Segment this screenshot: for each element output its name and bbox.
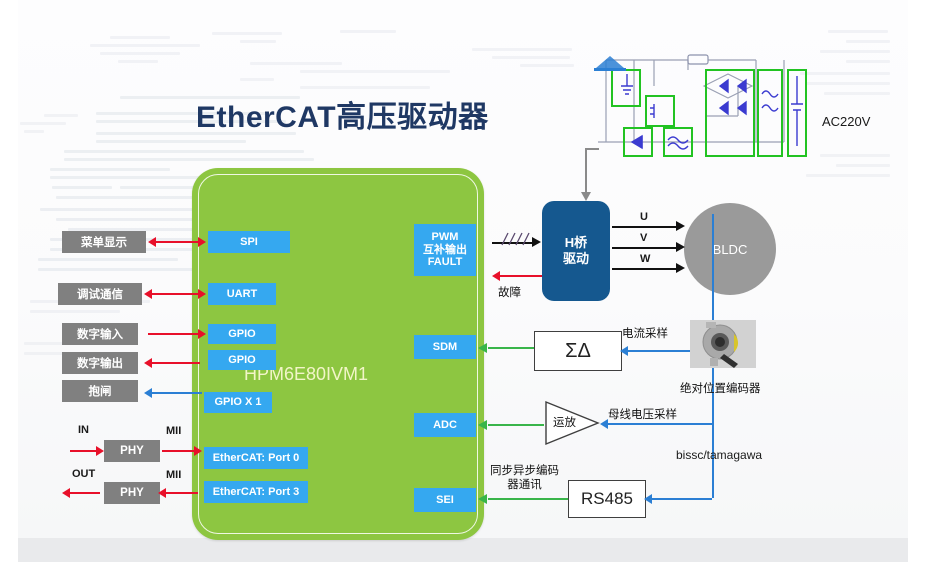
peripheral-sdm[interactable]: SDM xyxy=(414,335,476,359)
fault-label: 故障 xyxy=(498,284,521,300)
peripheral-sei[interactable]: SEI xyxy=(414,488,476,512)
phase-u-label: U xyxy=(640,211,648,223)
block-menu-display[interactable]: 菜单显示 xyxy=(62,231,146,253)
peripheral-gpio-x1[interactable]: GPIO X 1 xyxy=(204,392,272,413)
encoder-protocol-label: bissc/tamagawa xyxy=(676,448,762,462)
encoder-comm-line1: 同步异步编码 xyxy=(490,464,559,478)
mii-label-bottom: MII xyxy=(166,469,181,481)
phy-out[interactable]: PHY xyxy=(104,482,160,504)
peripheral-pwm-line3: FAULT xyxy=(428,256,463,269)
mii-label-top: MII xyxy=(166,425,181,437)
block-digital-input[interactable]: 数字输入 xyxy=(62,323,138,345)
encoder-photo xyxy=(690,320,756,368)
peripheral-ethercat-port3[interactable]: EtherCAT: Port 3 xyxy=(204,481,308,503)
power-supply-schematic xyxy=(588,46,818,158)
peripheral-uart[interactable]: UART xyxy=(208,283,276,305)
peripheral-pwm-line1: PWM xyxy=(432,231,459,244)
peripheral-gpio-input[interactable]: GPIO xyxy=(208,324,276,344)
peripheral-pwm-line2: 互补输出 xyxy=(423,244,467,257)
peripheral-ethercat-port0[interactable]: EtherCAT: Port 0 xyxy=(204,447,308,469)
encoder-comm-label: 同步异步编码 器通讯 xyxy=(490,464,559,493)
page-title: EtherCAT高压驱动器 xyxy=(196,92,489,136)
h-bridge-line1: H桥 xyxy=(563,235,589,251)
peripheral-pwm[interactable]: PWM 互补输出 FAULT xyxy=(414,224,476,276)
h-bridge-driver[interactable]: H桥 驱动 xyxy=(542,201,610,301)
phase-v-label: V xyxy=(640,232,647,244)
bldc-motor: BLDC xyxy=(684,203,776,295)
block-debug-comm[interactable]: 调试通信 xyxy=(58,283,142,305)
block-brake[interactable]: 抱闸 xyxy=(62,380,138,402)
encoder-comm-line2: 器通讯 xyxy=(490,478,559,492)
ac-source-label: AC220V xyxy=(822,114,870,129)
phase-w-label: W xyxy=(640,253,650,265)
current-sample-label: 电流采样 xyxy=(622,325,668,341)
slide-canvas: EtherCAT高压驱动器 xyxy=(0,0,926,582)
phy-in[interactable]: PHY xyxy=(104,440,160,462)
ethernet-out-label: OUT xyxy=(72,468,95,480)
peripheral-gpio-output[interactable]: GPIO xyxy=(208,350,276,370)
peripheral-adc[interactable]: ADC xyxy=(414,413,476,437)
peripheral-spi[interactable]: SPI xyxy=(208,231,290,253)
sigma-delta-block[interactable]: ΣΔ xyxy=(534,331,622,371)
opamp-label: 运放 xyxy=(553,414,576,430)
rs485-block[interactable]: RS485 xyxy=(568,480,646,518)
bus-voltage-label: 母线电压采样 xyxy=(608,406,677,422)
ethernet-in-label: IN xyxy=(78,424,89,436)
h-bridge-line2: 驱动 xyxy=(563,251,589,267)
background-bottom-band xyxy=(18,538,908,562)
block-digital-output[interactable]: 数字输出 xyxy=(62,352,138,374)
encoder-label: 绝对位置编码器 xyxy=(680,380,761,396)
